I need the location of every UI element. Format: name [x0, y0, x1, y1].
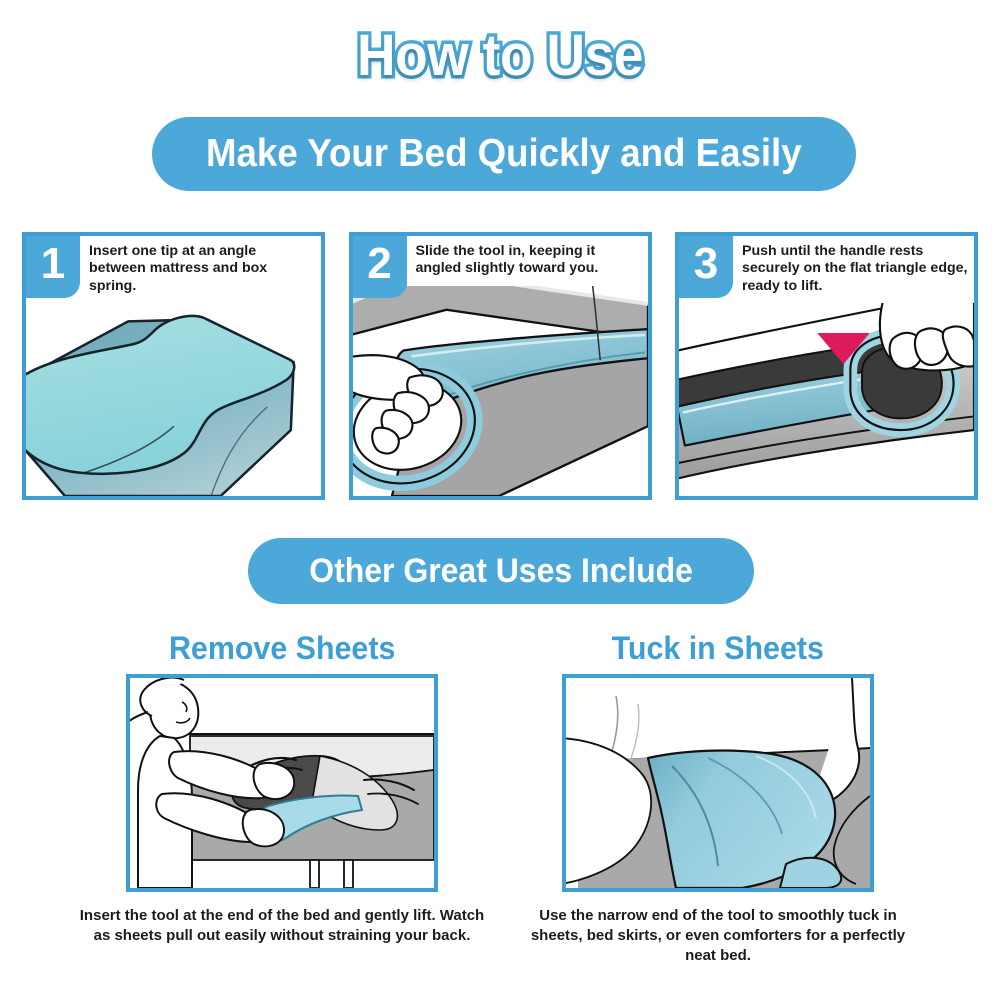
banner-other-great-uses: Other Great Uses Include — [248, 538, 754, 604]
page-title: How to Use — [40, 26, 960, 87]
use-caption-remove-sheets: Insert the tool at the end of the bed an… — [72, 906, 492, 946]
step-panel-3: 3 Push until the handle rests securely o… — [675, 232, 978, 500]
use-title-remove-sheets: Remove Sheets — [72, 632, 492, 664]
step-header-1: 1 Insert one tip at an angle between mat… — [26, 236, 321, 303]
person-lifting-sheets-illustration — [126, 674, 438, 892]
banner-primary-label: Make Your Bed Quickly and Easily — [206, 132, 802, 176]
banner-make-your-bed: Make Your Bed Quickly and Easily — [152, 117, 856, 191]
step-panel-1: 1 Insert one tip at an angle between mat… — [22, 232, 325, 500]
step-number-badge: 3 — [679, 236, 733, 298]
use-block-tuck-in-sheets: Tuck in Sheets — [508, 632, 928, 965]
tucking-sheet-illustration — [562, 674, 874, 892]
step-instruction-text: Insert one tip at an angle between mattr… — [80, 236, 321, 303]
use-block-remove-sheets: Remove Sheets — [72, 632, 492, 946]
step-instruction-text: Push until the handle rests securely on … — [733, 236, 974, 303]
use-title-tuck-in-sheets: Tuck in Sheets — [508, 632, 928, 664]
step-panel-2: 2 Slide the tool in, keeping it angled s… — [349, 232, 652, 500]
use-title-label: Tuck in Sheets — [612, 632, 824, 664]
use-caption-tuck-in-sheets: Use the narrow end of the tool to smooth… — [508, 906, 928, 965]
step-instruction-text: Slide the tool in, keeping it angled sli… — [407, 236, 648, 286]
banner-secondary-label: Other Great Uses Include — [309, 552, 693, 591]
step-number-badge: 2 — [353, 236, 407, 298]
uses-row: Remove Sheets — [0, 632, 1000, 972]
step-number-badge: 1 — [26, 236, 80, 298]
step-header-2: 2 Slide the tool in, keeping it angled s… — [353, 236, 648, 298]
use-title-label: Remove Sheets — [169, 632, 395, 664]
steps-row: 1 Insert one tip at an angle between mat… — [22, 232, 978, 500]
step-header-3: 3 Push until the handle rests securely o… — [679, 236, 974, 303]
